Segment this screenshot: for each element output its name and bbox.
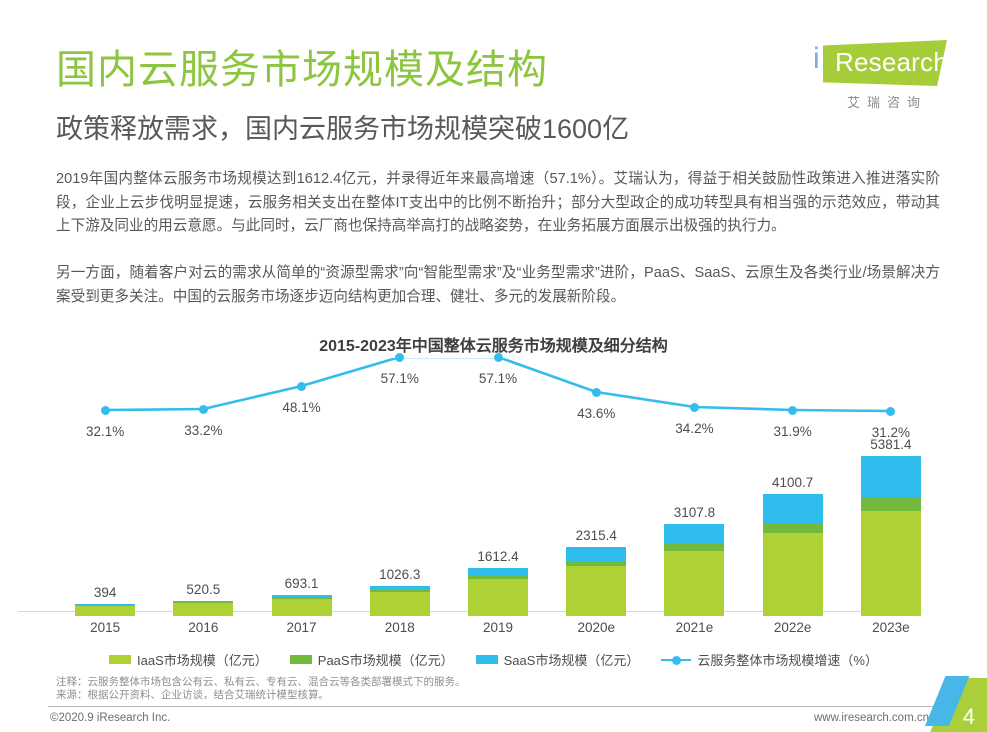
x-axis-label: 2022e (744, 620, 842, 635)
x-axis-label: 2017 (252, 620, 350, 635)
bar-segment-iaas (468, 579, 528, 616)
stacked-bar (566, 547, 626, 616)
corner-decoration: 4 (915, 676, 987, 732)
bar-segment-paas (861, 497, 921, 511)
stacked-bar (173, 601, 233, 616)
growth-percent-label: 31.9% (744, 424, 842, 439)
bar-value-label: 693.1 (252, 576, 350, 591)
stacked-bar (370, 586, 430, 617)
legend-label: 云服务整体市场规模增速（%） (697, 650, 878, 669)
x-axis-label: 2015 (56, 620, 154, 635)
bar-segment-iaas (566, 566, 626, 616)
body-paragraph-2: 另一方面，随着客户对云的需求从简单的“资源型需求”向“智能型需求”及“业务型需求… (56, 262, 940, 309)
growth-percent-label: 33.2% (154, 423, 252, 438)
footer-website: www.iresearch.com.cn (814, 712, 929, 724)
logo-chinese-name: 艾瑞咨询 (825, 92, 949, 111)
stacked-bar (272, 595, 332, 616)
legend-swatch-icon (290, 655, 312, 664)
growth-line-point (297, 382, 306, 391)
slide: i Research 艾瑞咨询 国内云服务市场规模及结构 政策释放需求，国内云服… (0, 0, 987, 732)
legend-swatch-icon (476, 655, 498, 664)
footer-divider (48, 706, 940, 707)
body-paragraph-1: 2019年国内整体云服务市场规模达到1612.4亿元，并录得近年来最高增速（57… (56, 168, 940, 239)
bar-segment-iaas (763, 533, 823, 616)
growth-line-point (690, 403, 699, 412)
growth-percent-label: 57.1% (449, 371, 547, 386)
bar-value-label: 4100.7 (744, 475, 842, 490)
stacked-bar (861, 456, 921, 616)
bar-segment-saas (664, 524, 724, 545)
page-subtitle: 政策释放需求，国内云服务市场规模突破1600亿 (56, 112, 629, 146)
bar-value-label: 1612.4 (449, 549, 547, 564)
chart-column: 4100.7 (744, 364, 840, 616)
stacked-bar (763, 494, 823, 616)
bar-segment-iaas (173, 603, 233, 616)
bar-segment-iaas (75, 606, 135, 616)
growth-line-point (199, 405, 208, 414)
legend-swatch-icon (109, 655, 131, 664)
growth-line-point (886, 407, 895, 416)
growth-percent-label: 48.1% (252, 400, 350, 415)
growth-percent-label: 31.2% (842, 425, 940, 440)
bar-segment-iaas (664, 551, 724, 616)
growth-percent-label: 34.2% (645, 421, 743, 436)
bar-segment-saas (861, 456, 921, 497)
footer-copyright: ©2020.9 iResearch Inc. (50, 712, 170, 724)
growth-line-point (395, 353, 404, 362)
chart-column: 2315.4 (547, 364, 643, 616)
chart-x-axis-labels: 201520162017201820192020e2021e2022e2023e (56, 620, 940, 642)
chart-column: 520.5 (154, 364, 250, 616)
legend-item[interactable]: PaaS市场规模（亿元） (290, 650, 454, 669)
note-line-1: 注释：云服务整体市场包含公有云、私有云、专有云、混合云等各类部署模式下的服务。 (56, 676, 466, 689)
iresearch-logo: i Research 艾瑞咨询 (809, 36, 949, 116)
chart-column: 394 (56, 364, 152, 616)
growth-line-point (592, 388, 601, 397)
cloud-market-chart: 39432.1%520.533.2%693.148.1%1026.31612.4… (56, 358, 940, 616)
bar-value-label: 394 (56, 585, 154, 600)
growth-line-point (101, 406, 110, 415)
legend-item[interactable]: SaaS市场规模（亿元） (476, 650, 640, 669)
legend-label: SaaS市场规模（亿元） (504, 650, 640, 669)
bar-segment-iaas (370, 592, 430, 616)
bar-segment-saas (566, 547, 626, 562)
legend-item-growth[interactable]: 云服务整体市场规模增速（%） (661, 650, 878, 669)
chart-legend: IaaS市场规模（亿元）PaaS市场规模（亿元）SaaS市场规模（亿元）云服务整… (0, 650, 987, 669)
note-line-2: 来源：根据公开资料、企业访谈，结合艾瑞统计模型核算。 (56, 689, 466, 702)
growth-percent-label: 43.6% (547, 406, 645, 421)
bar-value-label: 3107.8 (645, 505, 743, 520)
logo-letter-i: i (813, 44, 820, 74)
page-number: 4 (963, 704, 975, 730)
bar-value-label: 1026.3 (351, 567, 449, 582)
bar-segment-saas (468, 568, 528, 576)
stacked-bar (468, 568, 528, 616)
legend-label: PaaS市场规模（亿元） (318, 650, 454, 669)
x-axis-label: 2019 (449, 620, 547, 635)
bar-value-label: 520.5 (154, 582, 252, 597)
bar-segment-iaas (272, 599, 332, 616)
chart-title: 2015-2023年中国整体云服务市场规模及细分结构 (0, 332, 987, 356)
x-axis-label: 2023e (842, 620, 940, 635)
x-axis-label: 2018 (351, 620, 449, 635)
logo-wordmark: Research (835, 48, 948, 76)
growth-percent-label: 32.1% (56, 424, 154, 439)
x-axis-label: 2021e (645, 620, 743, 635)
legend-line-marker-icon (661, 655, 691, 665)
growth-line-point (788, 406, 797, 415)
x-axis-label: 2020e (547, 620, 645, 635)
stacked-bar (75, 604, 135, 616)
stacked-bar (664, 524, 724, 616)
legend-item[interactable]: IaaS市场规模（亿元） (109, 650, 268, 669)
legend-label: IaaS市场规模（亿元） (137, 650, 268, 669)
bar-segment-saas (763, 494, 823, 523)
chart-column: 3107.8 (645, 364, 741, 616)
growth-percent-label-peak: 57.1% (351, 371, 449, 386)
bar-value-label: 2315.4 (547, 528, 645, 543)
chart-column: 5381.4 (842, 364, 938, 616)
logo-mark: i Research (809, 36, 949, 88)
growth-line-point (494, 353, 503, 362)
chart-column: 1612.4 (449, 364, 545, 616)
x-axis-label: 2016 (154, 620, 252, 635)
chart-notes: 注释：云服务整体市场包含公有云、私有云、专有云、混合云等各类部署模式下的服务。 … (56, 676, 466, 702)
bar-segment-iaas (861, 511, 921, 616)
page-title: 国内云服务市场规模及结构 (56, 46, 548, 94)
bar-segment-paas (763, 523, 823, 533)
chart-column: 1026.3 (351, 364, 447, 616)
